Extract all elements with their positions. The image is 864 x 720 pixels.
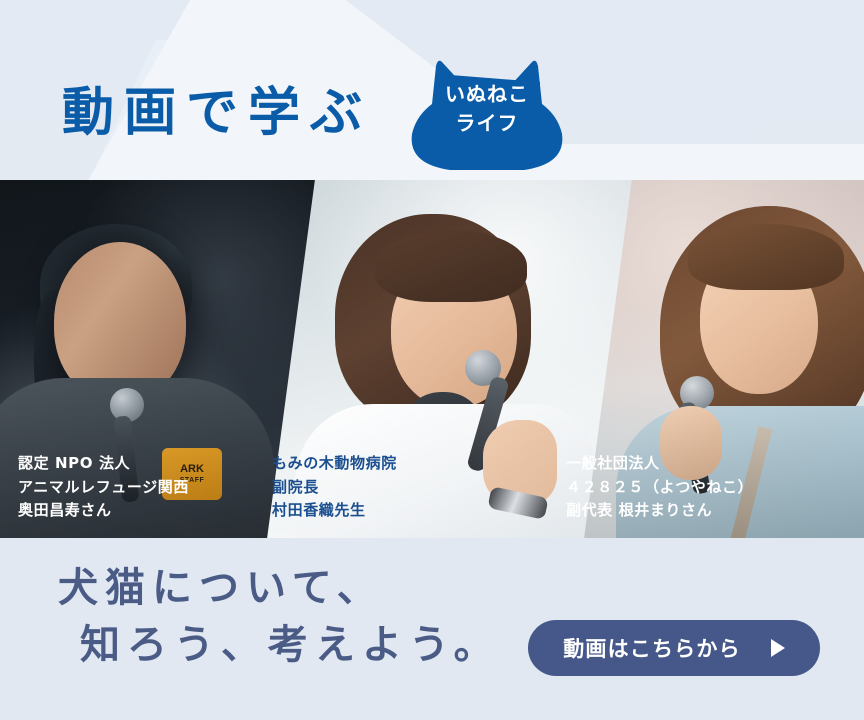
caption1-line2: アニマルレフュージ関西 — [18, 476, 189, 499]
speaker-caption-3: 一般社団法人 ４２８２５（よつやねこ） 副代表 根井まりさん — [566, 452, 753, 522]
caption2-line3: 村田香織先生 — [272, 499, 397, 522]
caption2-line1: もみの木動物病院 — [272, 452, 397, 475]
page-title: 動画で学ぶ — [62, 87, 372, 139]
caption3-line2: ４２８２５（よつやねこ） — [566, 476, 753, 499]
badge-line-1: いぬねこ — [402, 80, 572, 109]
play-arrow-icon — [771, 639, 785, 657]
badge-line-2: ライフ — [402, 109, 572, 138]
tagline-line-1: 犬猫について、 — [58, 560, 501, 617]
tagline: 犬猫について、 知ろう、考えよう。 — [58, 560, 501, 674]
cta-label: 動画はこちらから — [563, 633, 741, 663]
caption1-line3: 奥田昌寿さん — [18, 499, 189, 522]
speaker-caption-1: 認定 NPO 法人 アニマルレフュージ関西 奥田昌寿さん — [18, 452, 189, 522]
photo2-fringe — [375, 230, 527, 302]
watch-videos-button[interactable]: 動画はこちらから — [528, 620, 820, 676]
caption3-line3: 副代表 根井まりさん — [566, 499, 753, 522]
banner-header: 動画で学ぶ いぬねこ ライフ — [0, 58, 864, 168]
photo3-fringe — [688, 224, 844, 290]
caption2-line2: 副院長 — [272, 476, 397, 499]
badge-text: いぬねこ ライフ — [402, 80, 572, 138]
inuneko-life-badge: いぬねこ ライフ — [402, 52, 572, 174]
caption1-line1: 認定 NPO 法人 — [18, 452, 189, 475]
tagline-line-2: 知ろう、考えよう。 — [58, 617, 501, 674]
speaker-caption-2: もみの木動物病院 副院長 村田香織先生 — [272, 452, 397, 522]
caption3-line1: 一般社団法人 — [566, 452, 753, 475]
speaker-panels: ARK STAFF — [0, 180, 864, 538]
video-learning-banner: 動画で学ぶ いぬねこ ライフ — [0, 0, 864, 720]
